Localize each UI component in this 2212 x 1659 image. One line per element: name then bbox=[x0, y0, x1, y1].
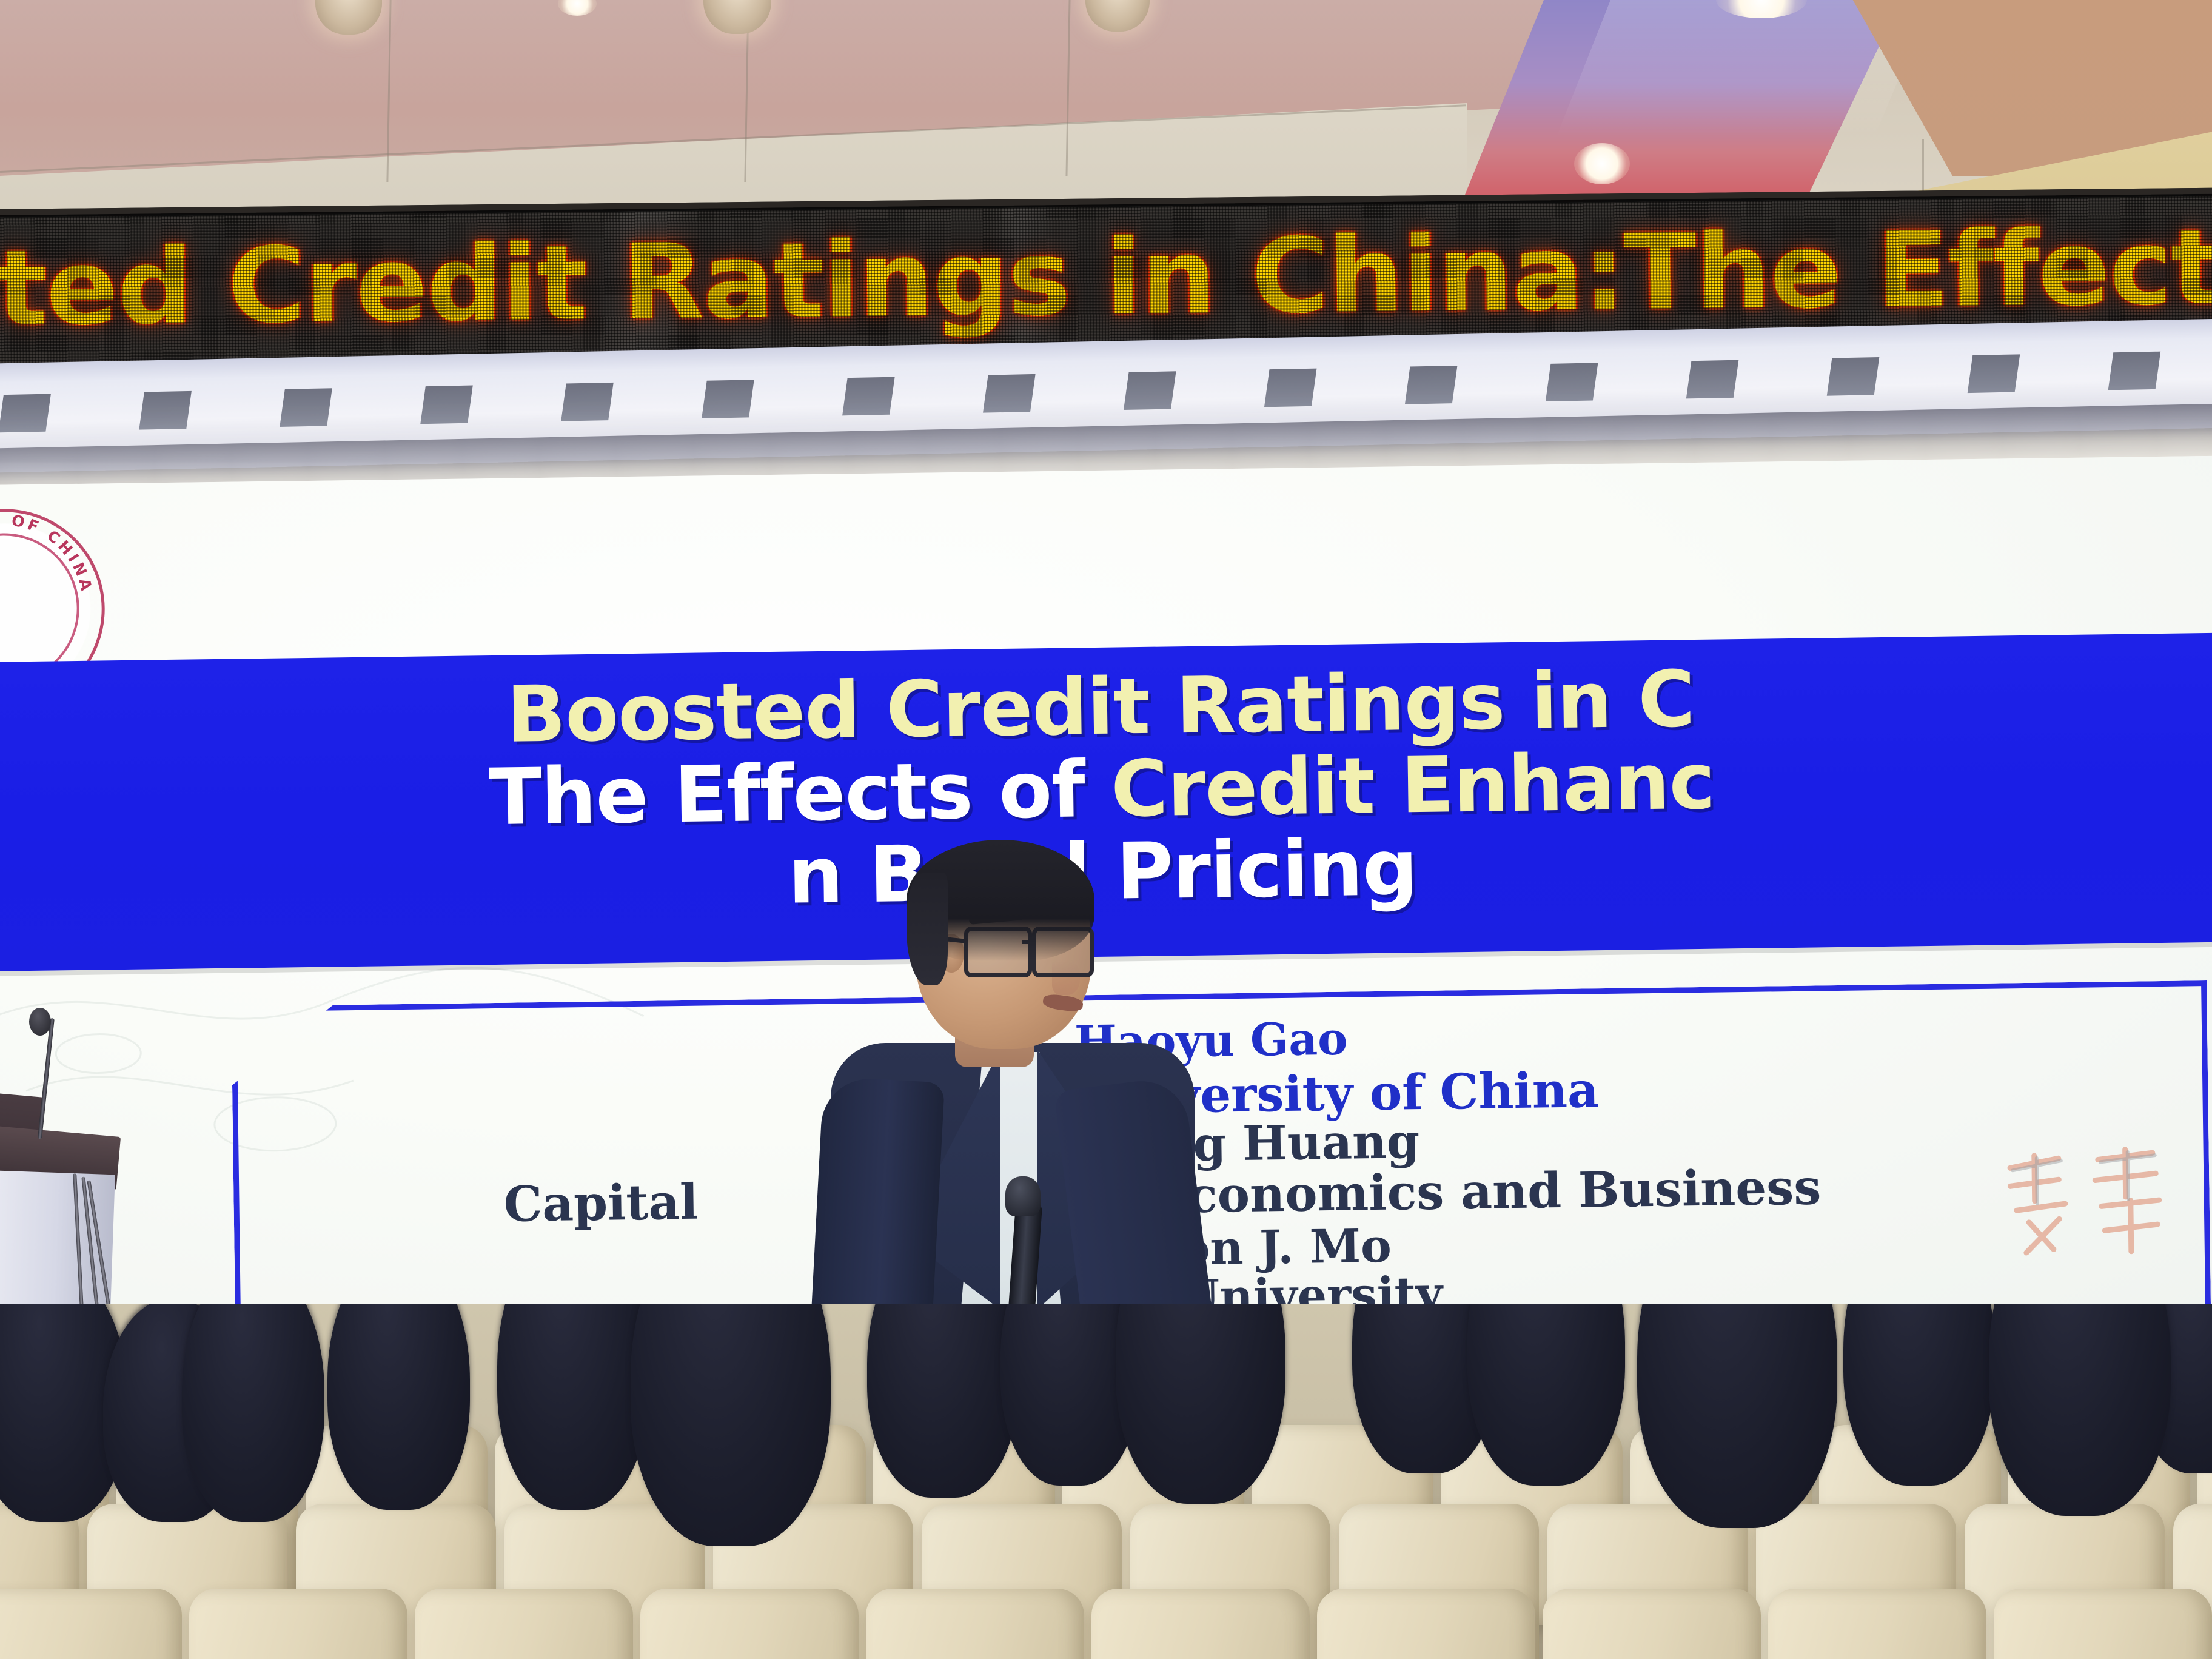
attendee-head bbox=[1116, 1304, 1285, 1504]
valance-vent bbox=[139, 391, 192, 430]
auditorium-seat bbox=[1994, 1589, 2212, 1659]
valance-vent bbox=[1546, 363, 1598, 401]
valance-vent bbox=[280, 388, 332, 427]
auditorium-seat bbox=[1317, 1589, 1535, 1659]
attendee-head bbox=[497, 1304, 649, 1510]
microphone-head-icon bbox=[1005, 1176, 1041, 1216]
presenter-hair-side bbox=[907, 873, 948, 985]
svg-text:TY OF CHINA: TY OF CHINA bbox=[0, 509, 96, 597]
attendee-head bbox=[1637, 1304, 1837, 1528]
valance-vent bbox=[1405, 366, 1458, 404]
valance-vent bbox=[1686, 360, 1739, 399]
attendee-head bbox=[631, 1304, 831, 1546]
valance-vent bbox=[561, 383, 614, 421]
valance-vent bbox=[1264, 369, 1317, 407]
attendee-head bbox=[1843, 1304, 1995, 1486]
valance-vent bbox=[842, 377, 895, 416]
auditorium-seat bbox=[1543, 1589, 1761, 1659]
auditorium-seat bbox=[1768, 1589, 1986, 1659]
valance-vent bbox=[1124, 371, 1176, 410]
valance-vent bbox=[0, 394, 51, 433]
valance-vent bbox=[1968, 354, 2020, 393]
auditorium-seat bbox=[415, 1589, 633, 1659]
auditorium-seat bbox=[1091, 1589, 1310, 1659]
microphone-icon bbox=[29, 1008, 51, 1036]
valance-vent bbox=[1827, 357, 1880, 396]
lecture-hall-scene: osted Credit Ratings in China:The Effect… bbox=[0, 0, 2212, 1659]
auditorium-seat bbox=[866, 1589, 1084, 1659]
attendee-head bbox=[1989, 1304, 2171, 1516]
author-2-affiliation-prefix: Capital bbox=[503, 1173, 699, 1233]
calligraphy-watermark bbox=[1992, 1142, 2176, 1296]
valance-vent bbox=[420, 386, 473, 424]
ceiling-downlight-icon bbox=[1574, 143, 1630, 184]
auditorium-seat bbox=[0, 1589, 182, 1659]
valance-vent bbox=[2108, 352, 2161, 390]
auditorium-seat bbox=[189, 1589, 407, 1659]
attendee-head bbox=[327, 1304, 470, 1510]
valance-vent bbox=[702, 380, 754, 418]
audience-seating bbox=[0, 1304, 2212, 1659]
valance-vent bbox=[983, 374, 1036, 413]
auditorium-seat bbox=[640, 1589, 859, 1659]
attendee-head bbox=[867, 1304, 1019, 1498]
attendee-head bbox=[182, 1304, 324, 1522]
